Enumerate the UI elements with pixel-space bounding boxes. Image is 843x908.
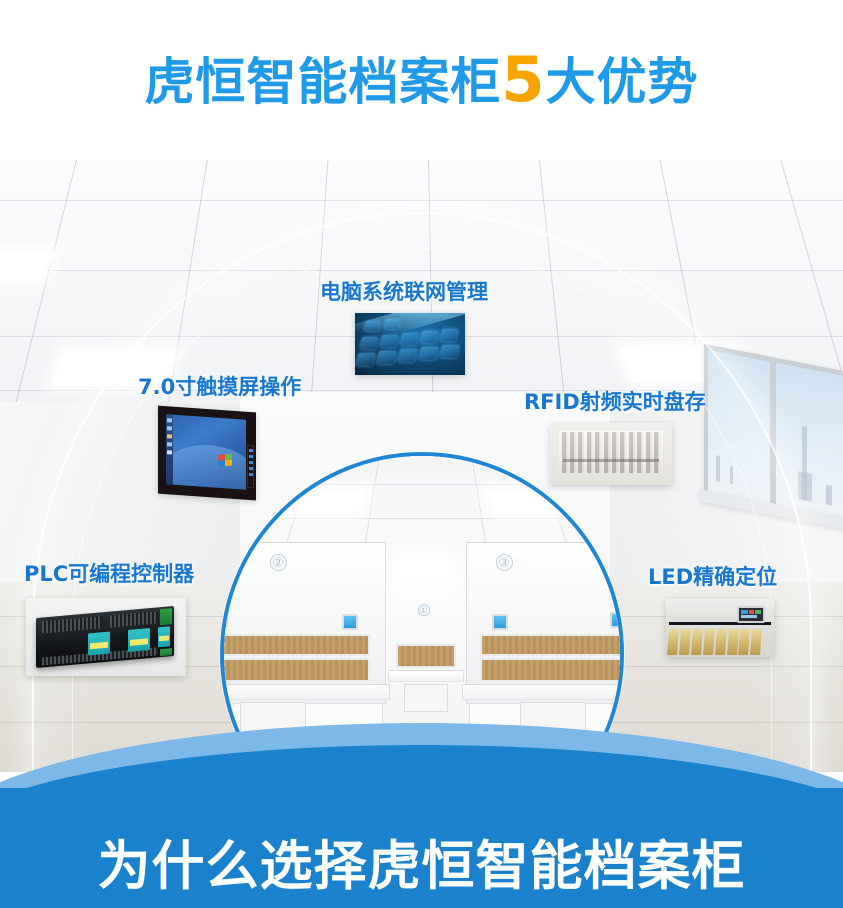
feature-plc[interactable]: PLC可编程控制器 bbox=[24, 563, 194, 676]
cabinet-number-3: ③ bbox=[496, 554, 513, 571]
feature-label-network-management: 电脑系统联网管理 bbox=[320, 281, 488, 304]
feature-touchscreen[interactable]: 7.0寸触摸屏操作 bbox=[138, 376, 301, 497]
keyboard-photo bbox=[355, 313, 465, 375]
feature-label-rfid: RFID射频实时盘存 bbox=[524, 391, 706, 414]
background-scene: ① ② ③ bbox=[0, 152, 843, 772]
desk-right bbox=[462, 684, 624, 700]
desk-panel-far bbox=[404, 684, 448, 712]
led-mini-display bbox=[737, 606, 765, 623]
feature-label-plc: PLC可编程控制器 bbox=[24, 563, 194, 586]
rfid-rack-photo bbox=[550, 423, 672, 485]
page-title: 虎恒智能档案柜5大优势 bbox=[144, 49, 698, 111]
led-shelf-photo bbox=[666, 599, 774, 657]
shelf-far bbox=[396, 644, 456, 668]
desk-far bbox=[388, 670, 464, 682]
shelf-left-lower bbox=[220, 658, 370, 682]
feature-network-management[interactable]: 电脑系统联网管理 bbox=[320, 281, 488, 375]
shelf-right-upper bbox=[480, 634, 624, 656]
page-root: ① ② ③ bbox=[0, 0, 843, 908]
bottom-banner: 为什么选择虎恒智能档案柜 bbox=[0, 723, 843, 908]
header: 虎恒智能档案柜5大优势 bbox=[0, 0, 843, 160]
shelf-right-lower bbox=[480, 658, 624, 682]
feature-rfid[interactable]: RFID射频实时盘存 bbox=[524, 391, 706, 485]
title-prefix: 虎恒智能档案柜 bbox=[144, 53, 501, 111]
feature-label-led: LED精确定位 bbox=[648, 566, 777, 589]
shelf-left-upper bbox=[220, 634, 370, 656]
cabinet-screen-left-b bbox=[342, 614, 358, 630]
cabinet-number-far: ① bbox=[418, 604, 430, 616]
title-suffix: 大优势 bbox=[546, 53, 699, 111]
feature-label-touchscreen: 7.0寸触摸屏操作 bbox=[138, 376, 301, 399]
feature-led[interactable]: LED精确定位 bbox=[648, 566, 777, 657]
touch-panel-photo bbox=[158, 406, 256, 501]
plc-module-photo bbox=[26, 598, 186, 676]
banner-headline: 为什么选择虎恒智能档案柜 bbox=[0, 837, 843, 898]
cabinet-number-2: ② bbox=[270, 554, 287, 571]
desk-left bbox=[220, 684, 390, 700]
title-number: 5 bbox=[501, 43, 545, 116]
cabinet-screen-right-a bbox=[492, 614, 508, 630]
